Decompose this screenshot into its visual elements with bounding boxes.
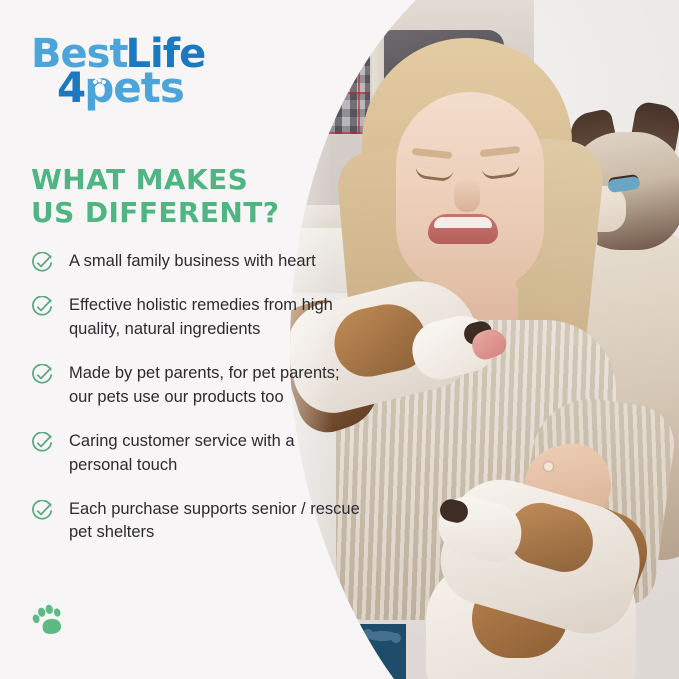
check-circle-icon bbox=[31, 500, 53, 522]
check-circle-icon bbox=[31, 252, 53, 274]
benefits-list: A small family business with heart Effec… bbox=[31, 250, 361, 565]
benefit-text: A small family business with heart bbox=[69, 250, 316, 274]
woman-ring bbox=[544, 462, 553, 471]
page-title: WHAT MAKES US DIFFERENT? bbox=[31, 163, 279, 229]
logo-word-four: 4 bbox=[57, 63, 85, 112]
benefit-text: Made by pet parents, for pet parents; ou… bbox=[69, 362, 361, 410]
benefit-text: Each purchase supports senior / rescue p… bbox=[69, 498, 361, 546]
list-item: Caring customer service with a personal … bbox=[31, 430, 361, 478]
check-circle-icon bbox=[31, 432, 53, 454]
benefit-text: Caring customer service with a personal … bbox=[69, 430, 361, 478]
background-plaid-blanket bbox=[290, 14, 370, 134]
list-item: Effective holistic remedies from high qu… bbox=[31, 294, 361, 342]
woman-teeth bbox=[434, 217, 492, 228]
paw-print-icon bbox=[30, 604, 66, 638]
logo-word-pets: pets bbox=[84, 63, 184, 112]
check-circle-icon bbox=[31, 296, 53, 318]
benefit-text: Effective holistic remedies from high qu… bbox=[69, 294, 361, 342]
headline-line-2: US DIFFERENT? bbox=[31, 196, 279, 229]
logo-line-2: 4pets bbox=[57, 69, 205, 108]
woman-nose bbox=[454, 178, 480, 212]
headline-line-1: WHAT MAKES bbox=[31, 163, 279, 196]
list-item: A small family business with heart bbox=[31, 250, 361, 274]
list-item: Made by pet parents, for pet parents; ou… bbox=[31, 362, 361, 410]
pet-icon-pattern-panel bbox=[320, 624, 406, 679]
brand-logo[interactable]: BestLife 4pets bbox=[31, 36, 205, 107]
paw-icon bbox=[93, 79, 108, 92]
list-item: Each purchase supports senior / rescue p… bbox=[31, 498, 361, 546]
check-circle-icon bbox=[31, 364, 53, 386]
promo-card: BestLife 4pets WHAT MAKES US DIFFERENT? … bbox=[0, 0, 679, 679]
